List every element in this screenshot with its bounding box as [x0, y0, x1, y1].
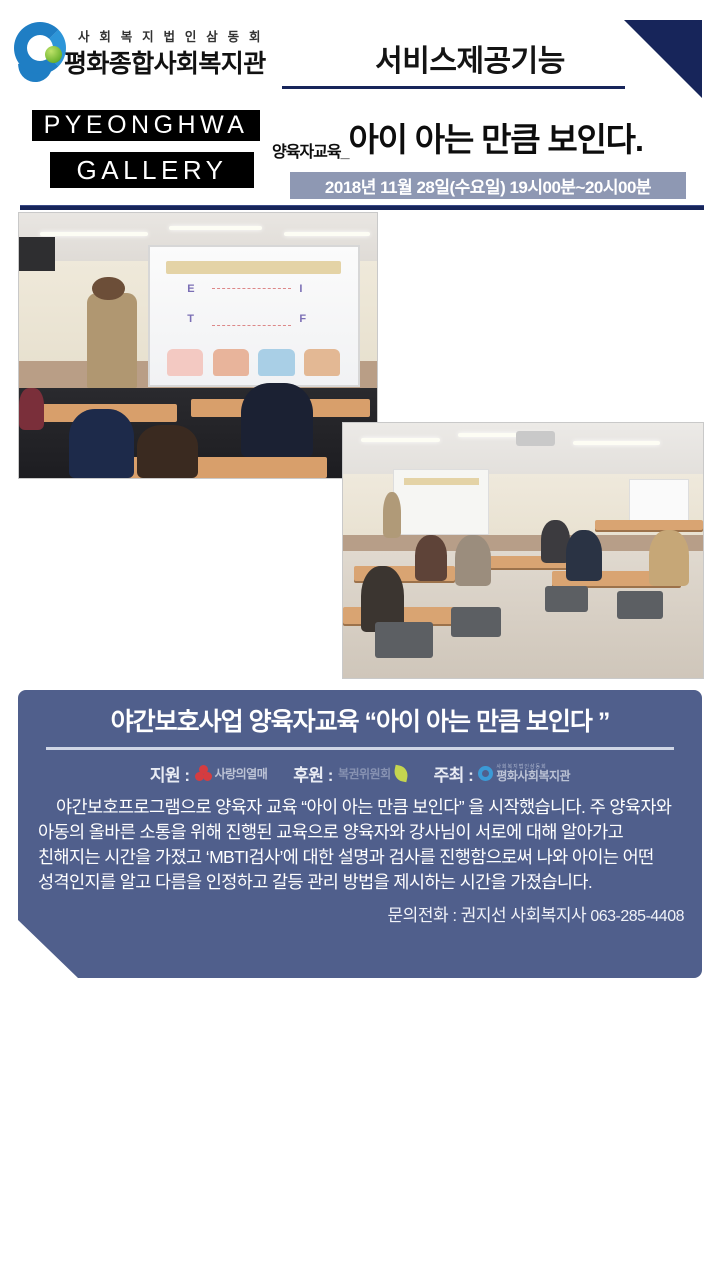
photo1-speaker-body — [87, 293, 137, 388]
photo2-chair — [375, 622, 433, 658]
sponsor-row: 지원 : 사랑의열매 후원 : 복권위원회 주최 : 사회복지법인삼동 — [18, 759, 702, 787]
sponsor-host-org: 평화사회복지관 — [496, 770, 570, 782]
panel-body-text: 야간보호프로그램으로 양육자 교육 “아이 아는 만큼 보인다” 을 시작했습니… — [38, 795, 682, 894]
photo1-ceiling-light — [40, 232, 147, 236]
panel-title: 야간보호사업 양육자교육 “아이 아는 만큼 보인다 ” — [18, 702, 702, 738]
program-title-prefix: 양육자교육_ — [272, 144, 349, 161]
photo1-attendee — [69, 409, 133, 478]
gallery-tag-gallery: GALLERY — [50, 152, 254, 188]
sponsor-funding-org: 복권위원회 — [338, 765, 391, 782]
photo2-chair — [617, 591, 664, 619]
photo1-projection-screen: E I T F — [148, 245, 360, 387]
sponsor-funding: 후원 : 복권위원회 — [293, 761, 407, 786]
photo1-attendee — [241, 383, 313, 457]
photo1-attendee — [19, 388, 44, 430]
contact-phone: 063-285-4408 — [590, 908, 684, 925]
photo1-ceiling-light — [284, 232, 370, 236]
sponsor-support: 지원 : 사랑의열매 — [150, 761, 267, 786]
photo2-projection-screen — [393, 469, 489, 535]
header-bottom-divider — [20, 205, 704, 210]
gallery-tag-pyeonghwa: PYEONGHWA — [32, 110, 260, 141]
photo2-attendee — [649, 530, 689, 586]
photo1-ceiling-light — [169, 226, 262, 230]
contact-label: 문의전화 : 권지선 사회복지사 — [388, 906, 587, 925]
photo-lecture-room-front: E I T F — [18, 212, 378, 479]
org-sub-name: 사 회 복 지 법 인 삼 동 회 — [78, 26, 264, 45]
logo-ring-shape — [14, 22, 66, 74]
org-name: 평화종합사회복지관 — [64, 44, 266, 80]
panel-title-rule — [46, 747, 674, 750]
header-divider-rule — [282, 86, 625, 89]
photo2-attendee — [455, 535, 491, 586]
photo1-slide-diagram — [212, 288, 291, 326]
organization-logo: 사 회 복 지 법 인 삼 동 회 평화종합사회복지관 — [12, 20, 282, 92]
photo1-door — [19, 237, 55, 271]
event-summary-panel: 야간보호사업 양육자교육 “아이 아는 만큼 보인다 ” 지원 : 사랑의열매 … — [18, 690, 702, 978]
panel-contact: 문의전화 : 권지선 사회복지사 063-285-4408 — [18, 901, 684, 926]
sponsor-support-label: 지원 : — [150, 761, 190, 786]
sponsor-support-org: 사랑의열매 — [215, 765, 268, 782]
photo1-speaker-head — [92, 277, 124, 301]
fruit-of-love-icon: 사랑의열매 — [195, 765, 268, 782]
pyeonghwa-ring-icon: 사회복지법인삼동회 평화사회복지관 — [478, 765, 570, 782]
photo2-ceiling-light — [361, 438, 440, 442]
section-title: 서비스제공기능 — [300, 36, 640, 80]
sponsor-host: 주최 : 사회복지법인삼동회 평화사회복지관 — [434, 761, 570, 786]
sponsor-funding-label: 후원 : — [293, 761, 333, 786]
photo2-speaker — [383, 492, 401, 538]
lottery-commission-icon: 복권위원회 — [338, 765, 408, 782]
photo-lecture-room-wide — [342, 422, 704, 679]
photo2-chair — [451, 607, 501, 638]
program-title-main: 아이 아는 만큼 보인다. — [349, 121, 643, 158]
photo2-attendee — [415, 535, 447, 581]
leaf-icon — [392, 764, 409, 782]
poster-page: 사 회 복 지 법 인 삼 동 회 평화종합사회복지관 PYEONGHWA GA… — [0, 0, 720, 1280]
event-date-banner: 2018년 11월 28일(수요일) 19시00분~20시00분 — [290, 172, 686, 199]
photo2-attendee — [566, 530, 602, 581]
sponsor-host-label: 주최 : — [434, 761, 474, 786]
photo2-ceiling-light — [573, 441, 659, 445]
photo1-attendee — [137, 425, 198, 478]
ring-icon — [478, 766, 493, 781]
photo2-projector — [516, 431, 556, 446]
photo2-table — [595, 520, 703, 530]
photo2-chair — [545, 586, 588, 612]
photo1-slide-cards — [162, 338, 345, 377]
program-title-line: 양육자교육_아이 아는 만큼 보인다. — [272, 113, 720, 162]
photo1-slide-title-bar — [166, 261, 340, 275]
